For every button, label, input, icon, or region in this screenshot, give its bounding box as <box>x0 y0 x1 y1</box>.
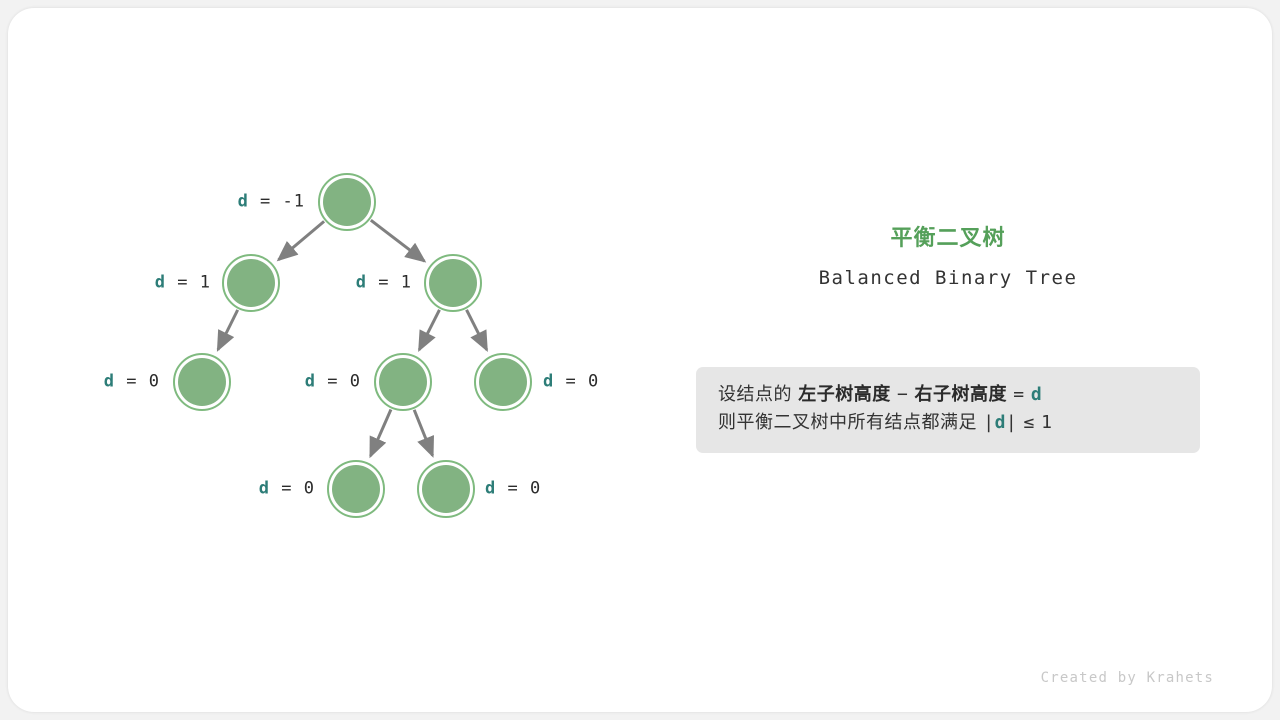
abs-bar-close: | <box>1006 412 1017 433</box>
balance-variable: d <box>485 479 496 499</box>
node-circle <box>479 358 527 406</box>
definition-prefix: 设结点的 <box>718 384 792 405</box>
balance-value: = 0 <box>115 372 160 392</box>
balance-variable: d <box>155 273 166 293</box>
node-circle <box>429 259 477 307</box>
tree-node[interactable] <box>375 354 431 410</box>
node-circle <box>332 465 380 513</box>
condition-prefix: 则平衡二叉树中所有结点都满足 <box>718 412 977 433</box>
minus-operator: − <box>897 384 908 405</box>
tree-node[interactable] <box>425 255 481 311</box>
tree-edge <box>467 310 487 350</box>
definition-line-1: 设结点的 左子树高度 − 右子树高度 = d <box>718 381 1178 409</box>
tree-edge <box>370 409 390 456</box>
info-panel: 平衡二叉树 Balanced Binary Tree <box>696 225 1200 289</box>
tree-edge <box>279 221 325 259</box>
node-circle <box>379 358 427 406</box>
node-balance-label: d = 0 <box>305 374 361 391</box>
balance-value: = 0 <box>270 479 315 499</box>
tree-edge <box>371 220 425 261</box>
node-balance-label: d = 0 <box>485 481 541 498</box>
definition-box: 设结点的 左子树高度 − 右子树高度 = d 则平衡二叉树中所有结点都满足 |d… <box>696 367 1200 453</box>
tree-node[interactable] <box>418 461 474 517</box>
node-balance-label: d = 1 <box>155 275 211 292</box>
tree-node[interactable] <box>174 354 230 410</box>
balance-value: = 1 <box>166 273 211 293</box>
balance-variable: d <box>1031 384 1042 405</box>
balance-variable: d <box>259 479 270 499</box>
node-circle <box>422 465 470 513</box>
node-circle <box>178 358 226 406</box>
balance-variable: d <box>356 273 367 293</box>
definition-left-height: 左子树高度 <box>798 384 891 405</box>
balance-value: = 0 <box>554 372 599 392</box>
balance-value: = -1 <box>249 192 305 212</box>
balance-variable: d <box>305 372 316 392</box>
tree-node[interactable] <box>475 354 531 410</box>
abs-bar-open: | <box>983 412 994 433</box>
tree-node[interactable] <box>319 174 375 230</box>
bound-value: 1 <box>1041 412 1052 433</box>
node-balance-label: d = 1 <box>356 275 412 292</box>
equals-operator: = <box>1013 384 1024 405</box>
balance-value: = 0 <box>496 479 541 499</box>
tree-node[interactable] <box>328 461 384 517</box>
tree-edge <box>419 310 439 350</box>
node-balance-label: d = 0 <box>104 374 160 391</box>
node-balance-label: d = 0 <box>543 374 599 391</box>
less-equal-operator: ≤ <box>1024 412 1035 433</box>
balance-variable: d <box>238 192 249 212</box>
node-circle <box>227 259 275 307</box>
definition-right-height: 右子树高度 <box>915 384 1008 405</box>
balance-variable-abs: d <box>995 412 1006 433</box>
balance-variable: d <box>104 372 115 392</box>
balance-variable: d <box>543 372 554 392</box>
balance-value: = 1 <box>367 273 412 293</box>
page-subtitle: Balanced Binary Tree <box>696 267 1200 289</box>
page-title: 平衡二叉树 <box>696 225 1200 254</box>
tree-graphic <box>0 0 1280 720</box>
credit-text: Created by Krahets <box>1041 670 1214 686</box>
balance-value: = 0 <box>316 372 361 392</box>
tree-edge <box>218 310 238 350</box>
node-balance-label: d = 0 <box>259 481 315 498</box>
node-balance-label: d = -1 <box>238 194 305 211</box>
node-circle <box>323 178 371 226</box>
diagram-canvas: d = -1d = 1d = 1d = 0d = 0d = 0d = 0d = … <box>0 0 1280 720</box>
tree-node[interactable] <box>223 255 279 311</box>
tree-edge <box>414 410 432 456</box>
tree-nodes <box>174 174 531 517</box>
definition-line-2: 则平衡二叉树中所有结点都满足 |d| ≤ 1 <box>718 409 1178 437</box>
